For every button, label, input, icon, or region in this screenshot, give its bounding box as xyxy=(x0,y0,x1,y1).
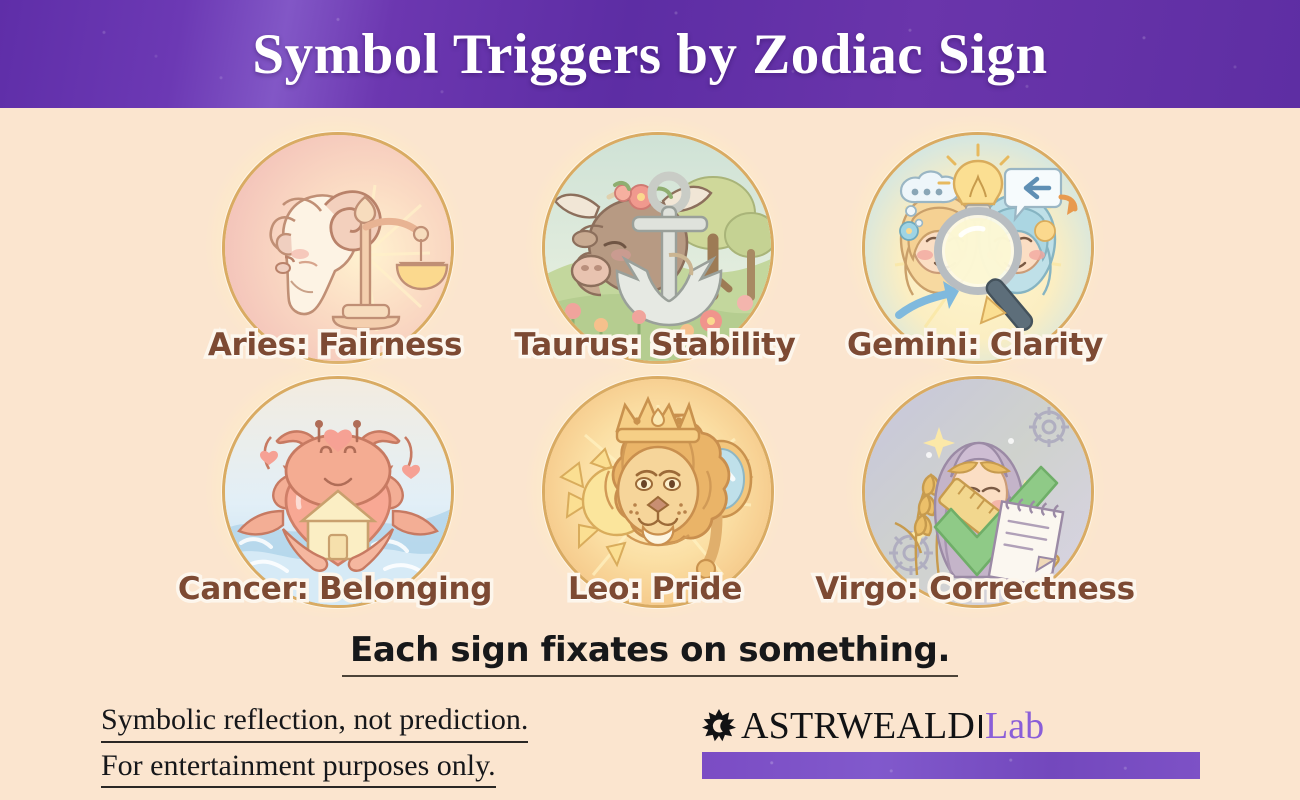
badge-wrap-cancer xyxy=(222,376,448,602)
zodiac-card-gemini[interactable]: Gemini: Clarity xyxy=(815,126,1135,371)
logo-row: ASTRWEALD Lab xyxy=(702,703,1044,749)
zodiac-grid: Aries: Fairness xyxy=(0,108,1300,618)
disclaimer-line-2: For entertainment purposes only. xyxy=(101,746,496,789)
page-title: Symbol Triggers by Zodiac Sign xyxy=(252,22,1047,87)
zodiac-card-virgo[interactable]: Virgo: Correctness xyxy=(815,370,1135,615)
zodiac-label: Virgo: Correctness xyxy=(815,571,1134,607)
brand-name: ASTRWEALD xyxy=(741,704,975,748)
tagline: Each sign fixates on something. xyxy=(0,630,1300,670)
sun-moon-star-icon xyxy=(702,709,736,743)
disclaimer-line-1: Symbolic reflection, not prediction. xyxy=(101,700,528,743)
badge-wrap-gemini xyxy=(862,132,1088,358)
page-header: Symbol Triggers by Zodiac Sign xyxy=(0,0,1300,108)
zodiac-card-aries[interactable]: Aries: Fairness xyxy=(175,126,495,371)
brand-suffix: Lab xyxy=(985,704,1044,748)
zodiac-card-taurus[interactable]: Taurus: Stability xyxy=(495,126,815,371)
zodiac-label: Taurus: Stability xyxy=(514,327,795,363)
zodiac-label: Leo: Pride xyxy=(568,571,742,607)
zodiac-card-cancer[interactable]: Cancer: Belonging xyxy=(175,370,495,615)
tagline-text: Each sign fixates on something. xyxy=(342,630,958,677)
brand-separator xyxy=(979,715,982,738)
badge-wrap-aries xyxy=(222,132,448,358)
badge-wrap-taurus xyxy=(542,132,768,358)
brand-logo[interactable]: ASTRWEALD Lab xyxy=(702,703,1044,749)
disclaimer: Symbolic reflection, not prediction. For… xyxy=(101,700,661,791)
zodiac-label: Cancer: Belonging xyxy=(178,571,492,607)
logo-underline-bar xyxy=(702,752,1200,779)
zodiac-label: Gemini: Clarity xyxy=(847,327,1103,363)
badge-wrap-leo xyxy=(542,376,768,602)
zodiac-label: Aries: Fairness xyxy=(208,327,462,363)
badge-wrap-virgo xyxy=(862,376,1088,602)
zodiac-card-leo[interactable]: Leo: Pride xyxy=(495,370,815,615)
